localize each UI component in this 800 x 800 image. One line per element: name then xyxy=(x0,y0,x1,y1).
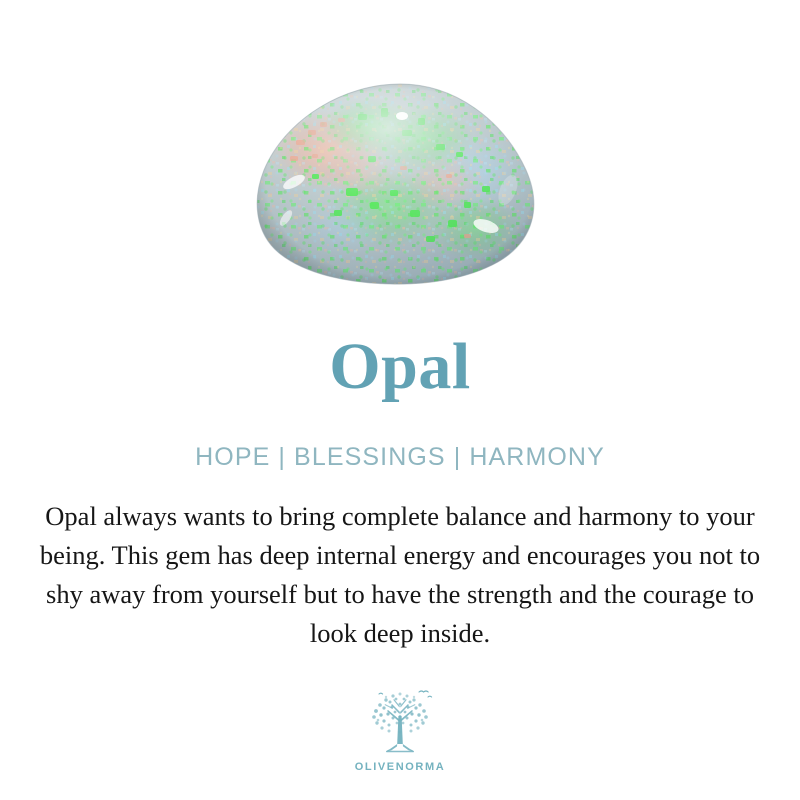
brand-logo: OLIVENORMA xyxy=(0,686,800,773)
top-highlight xyxy=(396,112,408,120)
gem-image-area xyxy=(0,78,800,308)
tree-of-life-icon xyxy=(357,686,443,758)
opal-cabochon-image xyxy=(250,78,550,288)
birds-icon xyxy=(379,691,432,697)
gemstone-keywords: HOPE | BLESSINGS | HARMONY xyxy=(0,443,800,472)
opal-gem-illustration xyxy=(250,78,550,288)
gemstone-title: Opal xyxy=(0,334,800,400)
brand-wordmark: OLIVENORMA xyxy=(355,761,446,773)
gemstone-info-card: Opal HOPE | BLESSINGS | HARMONY Opal alw… xyxy=(0,0,800,800)
gemstone-description: Opal always wants to bring complete bala… xyxy=(22,497,778,653)
gem-body xyxy=(250,78,550,288)
